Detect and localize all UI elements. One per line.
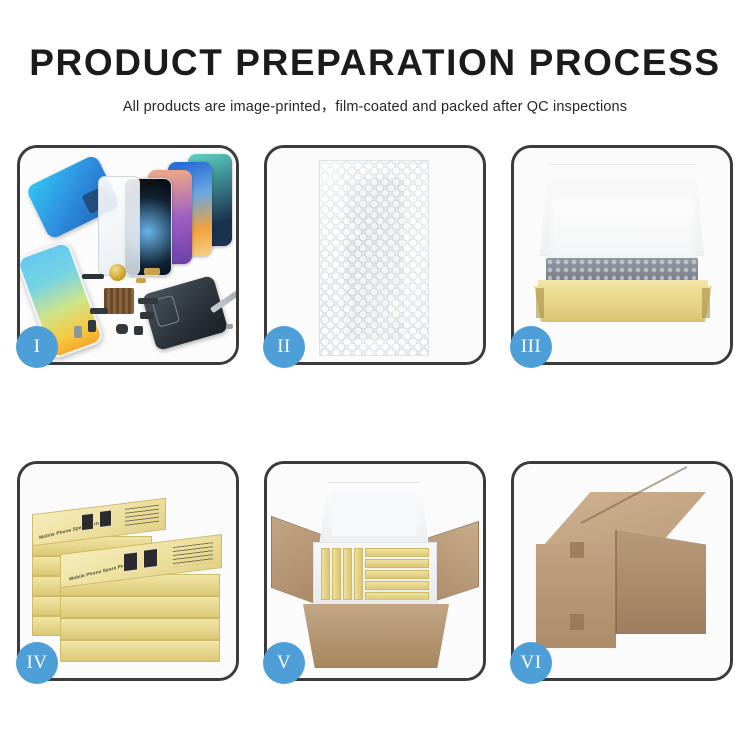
bubble-wrap-bag — [319, 160, 429, 356]
step-panel-1[interactable]: I — [17, 145, 239, 365]
inner-box-h3 — [365, 570, 429, 579]
foam-lid — [319, 482, 429, 546]
page-title: PRODUCT PREPARATION PROCESS — [0, 44, 750, 81]
plastic-glare — [320, 161, 428, 355]
step-panel-3[interactable]: III — [511, 145, 733, 365]
gold-connector-1 — [144, 268, 160, 275]
box-label-image-b2 — [143, 548, 158, 569]
gold-connector-2 — [136, 278, 146, 283]
inner-box-v2 — [332, 548, 341, 600]
phone-rear-housing-icon — [141, 275, 228, 351]
page-root: PRODUCT PREPARATION PROCESS All products… — [0, 0, 750, 750]
camera-module-icon — [134, 326, 143, 335]
part-strip-1 — [82, 274, 104, 279]
flex-cable-1 — [90, 308, 108, 314]
step-badge-6: VI — [510, 642, 552, 684]
inner-box-v3 — [343, 548, 352, 600]
step-panel-4[interactable]: Mobile Phone Spare Parts Mobile Phone Sp… — [17, 461, 239, 681]
step-badge-3: III — [510, 326, 552, 368]
step-panel-5[interactable]: V — [264, 461, 486, 681]
box-label-image-b1 — [123, 551, 138, 572]
flex-cable-2 — [88, 320, 96, 332]
inner-yellow-boxes — [321, 548, 429, 600]
carton-tape-lower — [570, 614, 584, 630]
inner-box-h4 — [365, 581, 429, 590]
sim-tray-icon — [74, 326, 82, 338]
carton-body — [303, 604, 449, 668]
inner-box-h1 — [365, 548, 429, 557]
step-panel-6[interactable]: VI — [511, 461, 733, 681]
step-badge-1: I — [16, 326, 58, 368]
step-image-2 — [267, 148, 483, 362]
flex-cable-4 — [140, 312, 154, 319]
flex-cable-3 — [138, 298, 158, 304]
box-corner-right — [702, 288, 710, 318]
step-image-5 — [267, 464, 483, 678]
step-image-6 — [514, 464, 730, 678]
chip-array-icon — [104, 288, 134, 314]
stacked-box-r2 — [60, 596, 220, 618]
box-lid-face — [548, 196, 698, 264]
phone-lineup — [116, 154, 236, 269]
box-corner-left — [536, 288, 544, 318]
header: PRODUCT PREPARATION PROCESS All products… — [0, 0, 750, 116]
inner-box-h5 — [365, 592, 429, 600]
step-image-4: Mobile Phone Spare Parts Mobile Phone Sp… — [20, 464, 236, 678]
page-subtitle: All products are image-printed，film-coat… — [0, 95, 750, 116]
step-panel-2[interactable]: II — [264, 145, 486, 365]
step-badge-2: II — [263, 326, 305, 368]
screw-icon — [226, 324, 233, 329]
yellow-box-front — [534, 286, 712, 322]
speaker-module-icon — [116, 324, 128, 334]
gold-coil-icon — [109, 264, 126, 281]
stacked-box-r4 — [60, 640, 220, 662]
inner-box-v1 — [321, 548, 330, 600]
carton-vertical-edge — [615, 530, 617, 634]
step-image-3 — [514, 148, 730, 362]
box-label-text-front: Mobile Phone Spare Parts — [69, 562, 131, 582]
box-label-image-a2 — [99, 509, 112, 528]
box-label-image-a1 — [81, 513, 94, 532]
box-label-lines-b — [173, 542, 213, 567]
stacked-box-r3 — [60, 618, 220, 640]
carton-right-face — [616, 530, 706, 634]
box-label-lines-a — [125, 505, 159, 527]
inner-box-v4 — [354, 548, 363, 600]
step-badge-4: IV — [16, 642, 58, 684]
screen-protector-icon — [98, 176, 140, 276]
step-image-1 — [20, 148, 236, 362]
process-step-grid: I II — [17, 145, 733, 681]
carton-left-face — [536, 544, 616, 648]
step-badge-5: V — [263, 642, 305, 684]
inner-box-h2 — [365, 559, 429, 568]
carton-tape-upper — [570, 542, 584, 558]
yellow-box-stack: Mobile Phone Spare Parts Mobile Phone Sp… — [28, 478, 233, 668]
